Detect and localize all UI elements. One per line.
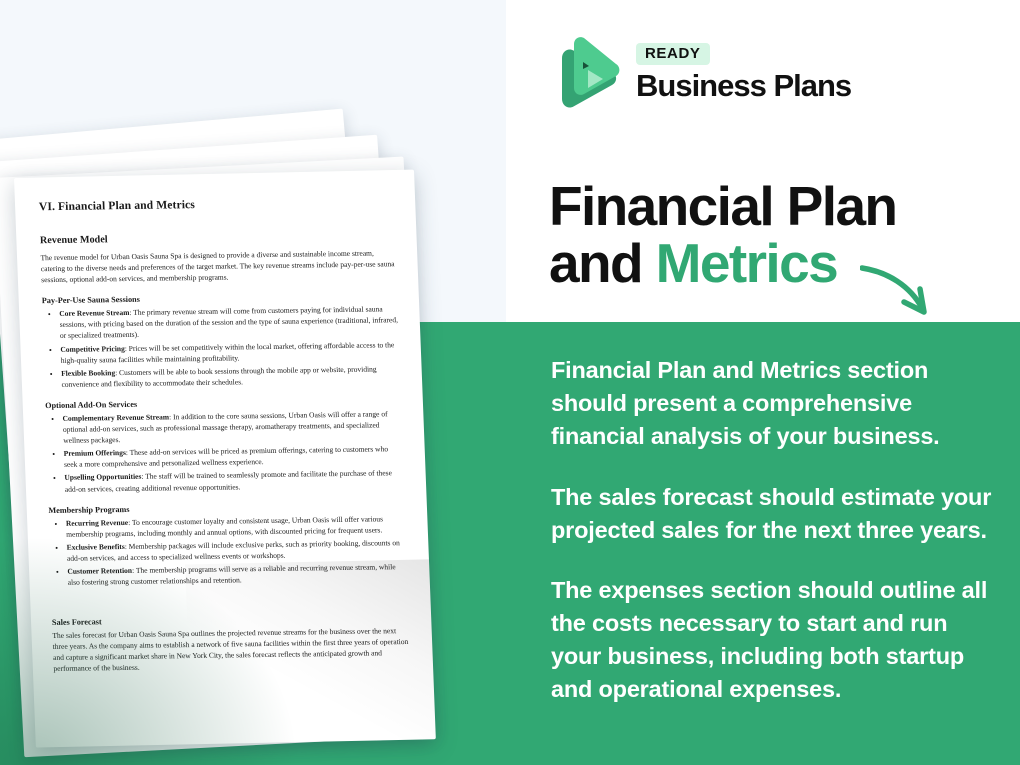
- document-sheet: VI. Financial Plan and Metrics Revenue M…: [16, 171, 434, 746]
- doc-bullet-label: Premium Offerings: [64, 448, 126, 458]
- green-paragraph-1: Financial Plan and Metrics section shoul…: [551, 354, 996, 453]
- doc-bullet-item: Competitive Pricing: Prices will be set …: [60, 339, 400, 366]
- doc-bullet-list: Recurring Revenue: To encourage customer…: [49, 513, 407, 588]
- document-stack: VI. Financial Plan and Metrics Revenue M…: [0, 132, 424, 752]
- headline-prefix: and: [549, 232, 656, 294]
- doc-bullet-item: Complementary Revenue Stream: In additio…: [62, 408, 402, 446]
- doc-bullet-item: Customer Retention: The membership progr…: [67, 561, 407, 588]
- headline-accent: Metrics: [656, 232, 837, 294]
- brand-wordmark: READY Business Plans: [636, 43, 851, 103]
- doc-bullet-label: Core Revenue Stream: [59, 308, 129, 318]
- slide-canvas: READY Business Plans Financial Plan and …: [0, 0, 1020, 765]
- headline-line-1: Financial Plan: [549, 178, 1009, 235]
- doc-bullet-list: Core Revenue Stream: The primary revenue…: [42, 303, 401, 390]
- doc-bullet-label: Flexible Booking: [61, 368, 115, 378]
- brand-logo[interactable]: READY Business Plans: [550, 36, 851, 110]
- play-mark-icon: [550, 36, 620, 110]
- doc-bullet-label: Upselling Opportunities: [64, 472, 141, 482]
- ready-badge: READY: [636, 43, 710, 65]
- doc-bullet-item: Premium Offerings: These add-on services…: [63, 443, 403, 470]
- doc-bullet-item: Core Revenue Stream: The primary revenue…: [59, 303, 399, 341]
- doc-spacer: [51, 592, 407, 607]
- doc-bullet-item: Flexible Booking: Customers will be able…: [61, 363, 401, 390]
- doc-bullet-item: Recurring Revenue: To encourage customer…: [66, 513, 406, 540]
- doc-bullet-label: Complementary Revenue Stream: [62, 412, 169, 422]
- doc-section-heading: Revenue Model: [40, 230, 396, 246]
- doc-bullet-label: Customer Retention: [67, 566, 132, 576]
- doc-bullet-list: Complementary Revenue Stream: In additio…: [45, 408, 404, 495]
- doc-title: VI. Financial Plan and Metrics: [39, 195, 395, 213]
- green-panel-copy: Financial Plan and Metrics section shoul…: [551, 354, 996, 706]
- green-paragraph-2: The sales forecast should estimate your …: [551, 481, 996, 547]
- doc-bullet-label: Exclusive Benefits: [66, 542, 124, 552]
- doc-bullet-item: Exclusive Benefits: Membership packages …: [66, 537, 406, 564]
- curved-down-right-arrow-icon: [860, 258, 980, 338]
- doc-intro-paragraph: The revenue model for Urban Oasis Sauna …: [40, 247, 397, 285]
- doc-bullet-label: Competitive Pricing: [60, 344, 125, 354]
- green-paragraph-3: The expenses section should outline all …: [551, 574, 996, 706]
- document-page-front[interactable]: VI. Financial Plan and Metrics Revenue M…: [14, 170, 436, 748]
- doc-forecast-paragraph: The sales forecast for Urban Oasis Sauna…: [52, 625, 409, 674]
- doc-bullet-label: Recurring Revenue: [66, 518, 129, 528]
- doc-bullet-item: Upselling Opportunities: The staff will …: [64, 468, 404, 495]
- brand-name: Business Plans: [636, 70, 851, 103]
